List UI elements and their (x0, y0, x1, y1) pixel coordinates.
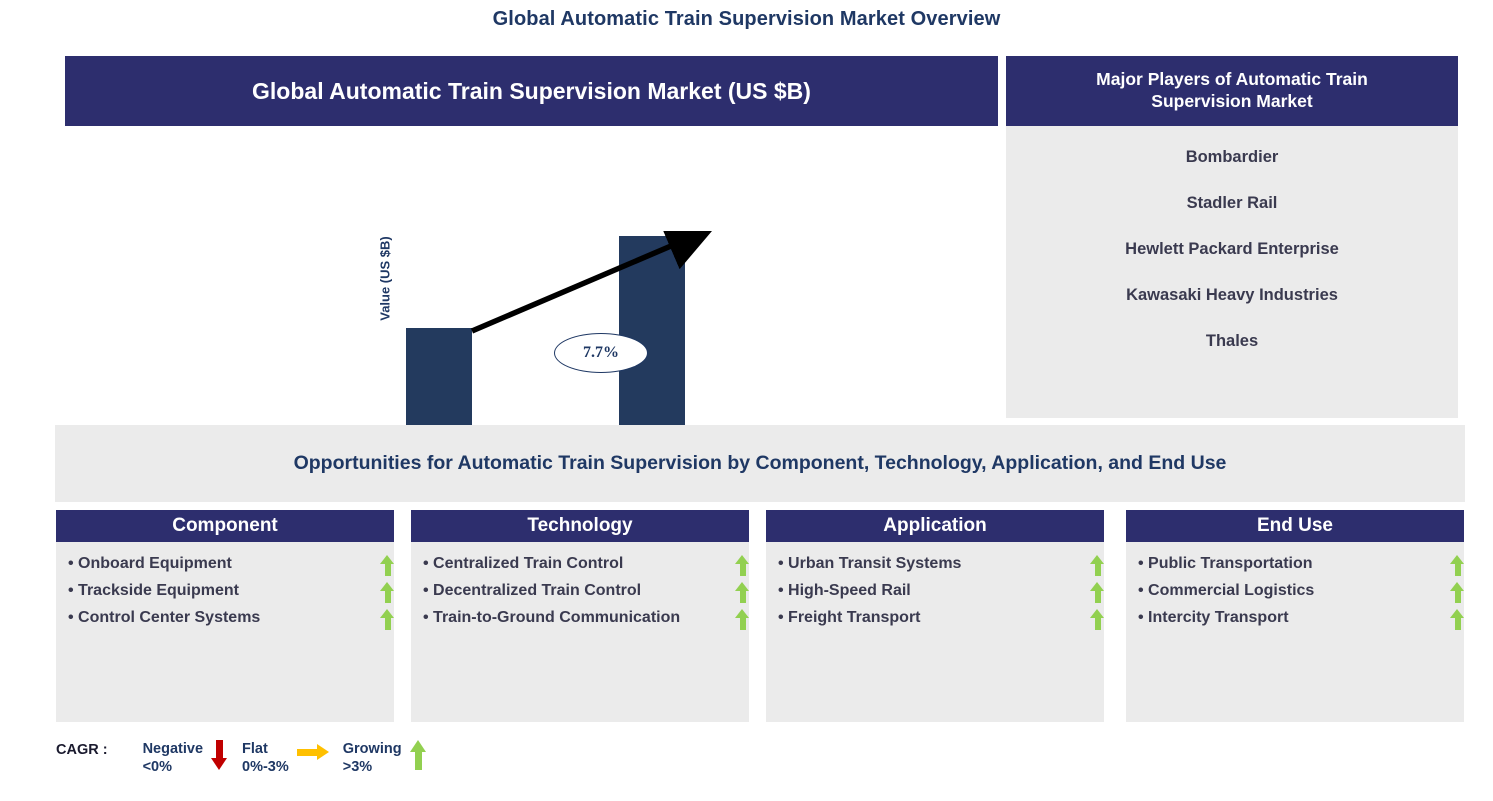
category-items: Public Transportation Commercial Logisti… (1126, 542, 1464, 722)
trend-arrow-cell (735, 608, 739, 609)
major-players-list: Bombardier Stadler Rail Hewlett Packard … (1006, 126, 1458, 418)
category-item-label: Public Transportation (1136, 554, 1313, 574)
list-item: Intercity Transport (1136, 608, 1454, 628)
legend-growing-range: >3% (343, 758, 402, 776)
list-item: Urban Transit Systems (776, 554, 1094, 574)
legend-entry-growing-text: Growing >3% (343, 740, 402, 776)
trend-arrow-cell (380, 608, 384, 609)
list-item: Onboard Equipment (66, 554, 384, 574)
major-players-header-line1: Major Players of Automatic Train (1096, 69, 1368, 89)
category-item-label: Train-to-Ground Communication (421, 608, 680, 628)
list-item: Stadler Rail (1187, 194, 1278, 213)
cagr-legend-title: CAGR : (56, 740, 108, 758)
major-players-header: Major Players of Automatic Train Supervi… (1006, 56, 1458, 126)
trend-arrow-cell (735, 554, 739, 555)
legend-negative-range: <0% (143, 758, 203, 776)
list-item: High-Speed Rail (776, 581, 1094, 601)
trend-arrow-cell (1450, 554, 1454, 555)
list-item: Public Transportation (1136, 554, 1454, 574)
legend-negative-name: Negative (143, 741, 203, 757)
category-header: Application (766, 510, 1104, 542)
market-chart-panel: Global Automatic Train Supervision Marke… (65, 56, 998, 418)
category-header: End Use (1126, 510, 1464, 542)
list-item: Thales (1206, 332, 1258, 351)
category-item-label: Onboard Equipment (66, 554, 232, 574)
legend-entry-flat-text: Flat 0%-3% (242, 740, 289, 776)
category-column-application: Application Urban Transit Systems High-S… (766, 510, 1104, 722)
major-players-panel: Major Players of Automatic Train Supervi… (1006, 56, 1458, 418)
cagr-legend: CAGR : Negative <0% Flat 0%-3% Growing >… (56, 740, 441, 776)
trend-arrow-cell (1090, 554, 1094, 555)
list-item: Bombardier (1186, 148, 1279, 167)
list-item: Freight Transport (776, 608, 1094, 628)
chart-y-axis-label: Value (US $B) (378, 209, 393, 349)
category-column-component: Component Onboard Equipment Trackside Eq… (56, 510, 394, 722)
trend-arrow-cell (735, 581, 739, 582)
list-item: Decentralized Train Control (421, 581, 739, 601)
major-players-header-line2: Supervision Market (1151, 91, 1312, 111)
legend-entry-growing: Growing >3% (343, 740, 427, 776)
trend-arrow-cell (1450, 581, 1454, 582)
arrow-right-icon (297, 744, 329, 761)
category-items: Centralized Train Control Decentralized … (411, 542, 749, 722)
category-column-end-use: End Use Public Transportation Commercial… (1126, 510, 1464, 722)
legend-flat-range: 0%-3% (242, 758, 289, 776)
market-chart-header: Global Automatic Train Supervision Marke… (65, 56, 998, 126)
list-item: Centralized Train Control (421, 554, 739, 574)
legend-entry-negative-text: Negative <0% (143, 740, 203, 776)
category-items: Urban Transit Systems High-Speed Rail Fr… (766, 542, 1104, 722)
category-item-label: Intercity Transport (1136, 608, 1289, 628)
list-item: Commercial Logistics (1136, 581, 1454, 601)
trend-arrow-cell (380, 581, 384, 582)
category-header: Technology (411, 510, 749, 542)
arrow-up-icon (410, 740, 427, 770)
trend-arrow-cell (1450, 608, 1454, 609)
legend-entry-negative: Negative <0% (143, 740, 228, 776)
category-item-label: Freight Transport (776, 608, 921, 628)
legend-entry-flat: Flat 0%-3% (242, 740, 329, 776)
category-item-label: Decentralized Train Control (421, 581, 641, 601)
infographic-page: Global Automatic Train Supervision Marke… (0, 0, 1493, 801)
category-item-label: Commercial Logistics (1136, 581, 1314, 601)
category-item-label: Centralized Train Control (421, 554, 623, 574)
legend-flat-name: Flat (242, 741, 268, 757)
category-item-label: Trackside Equipment (66, 581, 239, 601)
trend-arrow-cell (1090, 608, 1094, 609)
list-item: Train-to-Ground Communication (421, 608, 739, 628)
trend-arrow-cell (380, 554, 384, 555)
legend-growing-name: Growing (343, 741, 402, 757)
cagr-value-badge: 7.7% (554, 333, 648, 373)
opportunities-banner-text: Opportunities for Automatic Train Superv… (294, 452, 1227, 475)
list-item: Hewlett Packard Enterprise (1125, 240, 1339, 259)
category-column-technology: Technology Centralized Train Control Dec… (411, 510, 749, 722)
list-item: Kawasaki Heavy Industries (1126, 286, 1338, 305)
category-header: Component (56, 510, 394, 542)
category-item-label: High-Speed Rail (776, 581, 911, 601)
opportunities-banner: Opportunities for Automatic Train Superv… (55, 425, 1465, 502)
trend-arrow-cell (1090, 581, 1094, 582)
category-item-label: Control Center Systems (66, 608, 260, 628)
market-chart-body: Value (US $B) 7.7% 2024 2031 Source : Lu… (65, 126, 998, 418)
arrow-down-icon (211, 740, 228, 770)
page-title: Global Automatic Train Supervision Marke… (0, 8, 1493, 31)
category-items: Onboard Equipment Trackside Equipment Co… (56, 542, 394, 722)
list-item: Trackside Equipment (66, 581, 384, 601)
list-item: Control Center Systems (66, 608, 384, 628)
category-item-label: Urban Transit Systems (776, 554, 961, 574)
